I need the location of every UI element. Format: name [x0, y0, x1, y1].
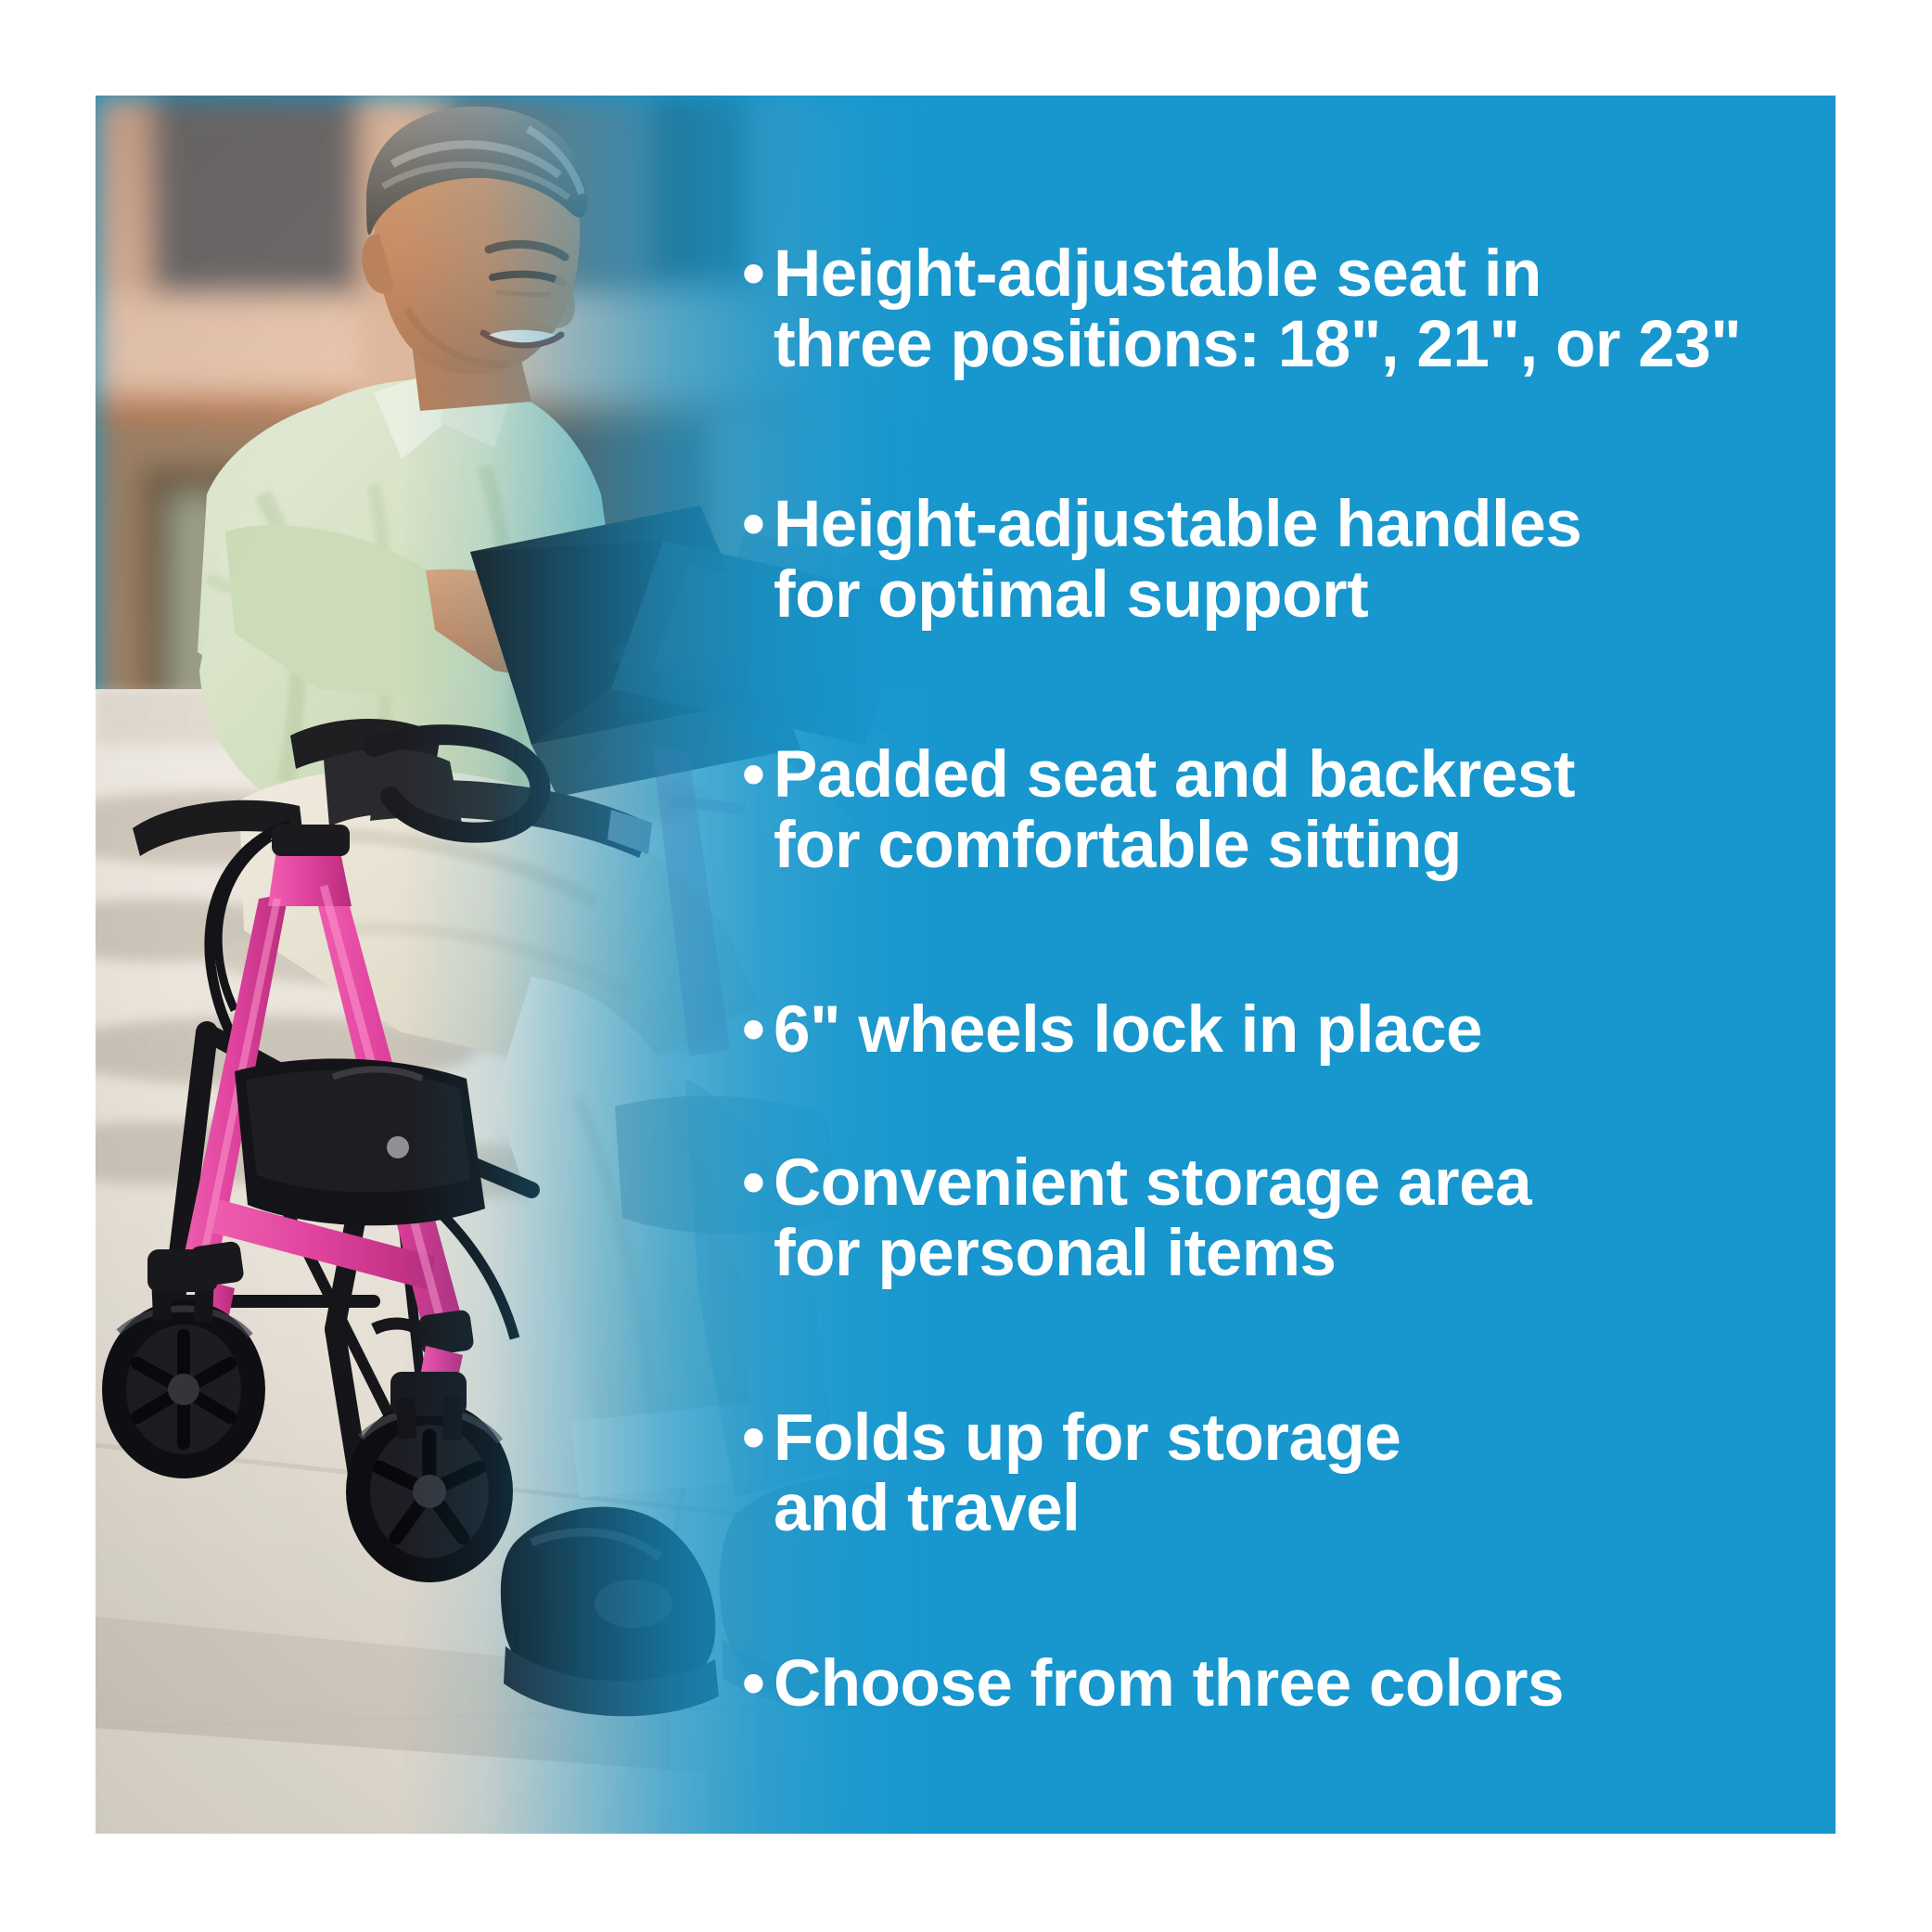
feature-list: • Height-adjustable seat in three positi… [742, 147, 1818, 1816]
bullet-icon: • [742, 1649, 774, 1720]
bullet-icon: • [742, 740, 774, 811]
list-item: • Folds up for storage and travel [742, 1403, 1401, 1545]
bullet-icon: • [742, 995, 774, 1066]
feature-text: 6" wheels lock in place [774, 995, 1482, 1066]
list-item: • Height-adjustable handles for optimal … [742, 490, 1581, 632]
feature-text: Height-adjustable seat in three position… [774, 239, 1741, 381]
list-item: • Choose from three colors [742, 1649, 1564, 1720]
bullet-icon: • [742, 239, 774, 310]
list-item: • Convenient storage area for personal i… [742, 1148, 1531, 1290]
list-item: • Padded seat and backrest for comfortab… [742, 740, 1575, 882]
feature-text: Height-adjustable handles for optimal su… [774, 490, 1581, 632]
bullet-icon: • [742, 1148, 774, 1219]
feature-text: Choose from three colors [774, 1649, 1564, 1720]
feature-text: Folds up for storage and travel [774, 1403, 1401, 1545]
bullet-icon: • [742, 490, 774, 560]
list-item: • Height-adjustable seat in three positi… [742, 239, 1741, 381]
feature-text: Padded seat and backrest for comfortable… [774, 740, 1575, 882]
content-panel: • Height-adjustable seat in three positi… [96, 96, 1836, 1834]
list-item: • 6" wheels lock in place [742, 995, 1482, 1066]
bullet-icon: • [742, 1403, 774, 1474]
feature-text: Convenient storage area for personal ite… [774, 1148, 1531, 1290]
product-feature-card: • Height-adjustable seat in three positi… [0, 0, 1932, 1932]
